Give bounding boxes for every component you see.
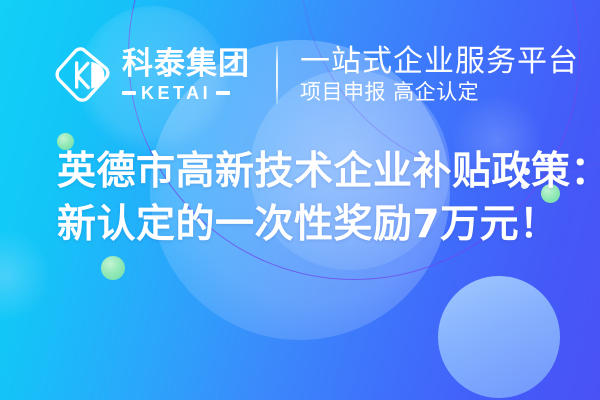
logo-company-name-cn: 科泰集团: [122, 48, 250, 81]
green-dot-upper-left: [57, 133, 74, 150]
logo-company-name-en: KETAI: [141, 84, 211, 102]
pale-blue-circle-bottom-right: [438, 276, 560, 398]
promo-banner: 科泰集团 KETAI 一站式企业服务平台 项目申报 高企认定 英德市高新技术企业…: [0, 0, 600, 400]
tagline-sub: 项目申报 高企认定: [300, 80, 579, 105]
headline-line-1: 英德市高新技术企业补贴政策：: [57, 150, 600, 194]
headline-block: 英德市高新技术企业补贴政策： 新认定的一次性奖励7万元！: [57, 150, 600, 246]
ketai-kd-monogram-icon: [52, 44, 114, 106]
logo-dash-right-icon: [216, 91, 230, 95]
logo-dash-left-icon: [122, 91, 136, 95]
header-divider: [276, 46, 278, 104]
tagline-main: 一站式企业服务平台: [300, 45, 579, 79]
tagline-block: 一站式企业服务平台 项目申报 高企认定: [300, 45, 579, 106]
banner-header: 科泰集团 KETAI 一站式企业服务平台 项目申报 高企认定: [52, 44, 579, 106]
logo-company-name-en-row: KETAI: [122, 84, 250, 102]
pale-blue-circle-top-left: [0, 230, 50, 320]
headline-line-2: 新认定的一次性奖励7万元！: [57, 203, 600, 247]
green-dot-lower-left: [101, 256, 125, 280]
logo-wordmark: 科泰集团 KETAI: [122, 48, 250, 102]
